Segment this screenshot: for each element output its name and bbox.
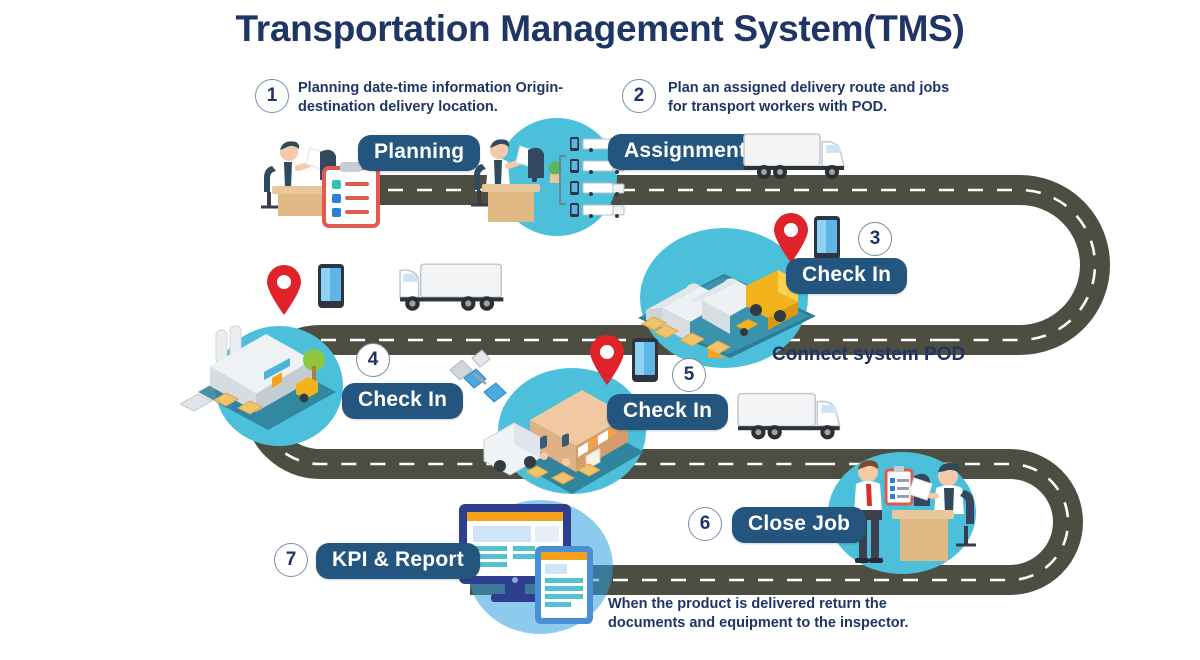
step-6-label[interactable]: Close Job [732, 507, 866, 543]
delivery-truck-icon [398, 258, 524, 316]
step-1-label[interactable]: Planning [358, 135, 480, 171]
step-7-number: 7 [274, 543, 308, 577]
step-1-number: 1 [255, 79, 289, 113]
step-2-number: 2 [622, 79, 656, 113]
step-6-number: 6 [688, 507, 722, 541]
step-4-label[interactable]: Check In [342, 383, 463, 419]
step-2-label[interactable]: Assignment [608, 134, 762, 170]
factory-plant-icon [180, 300, 360, 430]
connect-system-pod-label: Connect system POD [772, 344, 965, 366]
step-5-label[interactable]: Check In [607, 394, 728, 430]
step-1-description: Planning date-time information Origin-de… [298, 79, 598, 118]
step-4-number: 4 [356, 343, 390, 377]
infographic-canvas: Transportation Management System(TMS) 1 … [0, 0, 1200, 660]
step-2-description: Plan an assigned delivery route and jobs… [668, 79, 968, 118]
retail-store-icon [478, 366, 668, 494]
step-5-number: 5 [672, 358, 706, 392]
step-3-number: 3 [858, 222, 892, 256]
closing-note: When the product is delivered return the… [608, 595, 944, 634]
delivery-truck-icon [742, 128, 864, 184]
step-3-label[interactable]: Check In [786, 258, 907, 294]
delivery-truck-icon [736, 387, 860, 445]
step-7-label[interactable]: KPI & Report [316, 543, 480, 579]
